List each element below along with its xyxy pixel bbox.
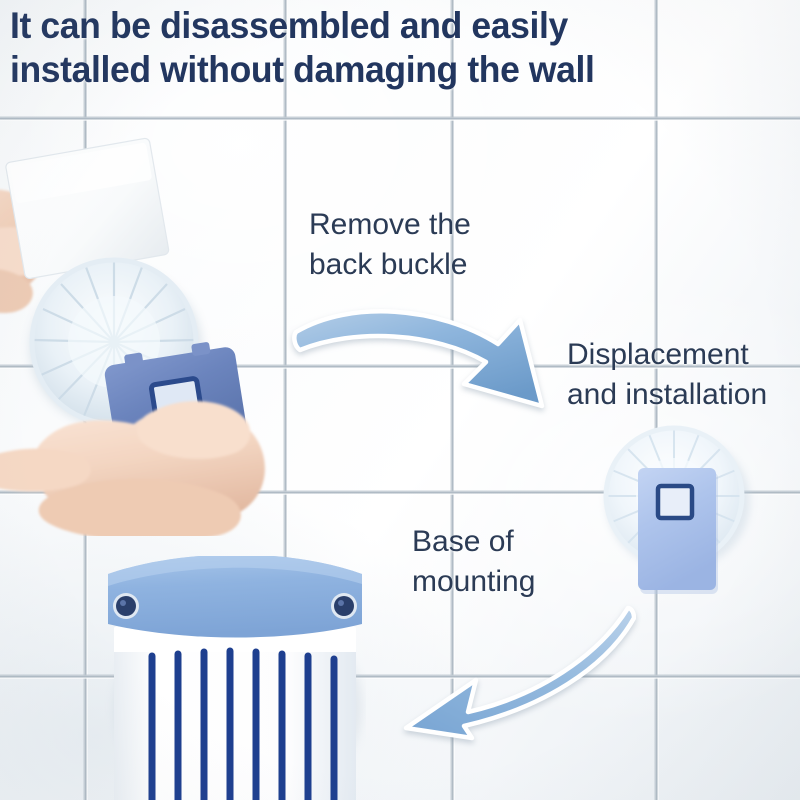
label-remove-line-1: Remove the	[309, 205, 471, 245]
page-title: It can be disassembled and easily instal…	[10, 4, 740, 92]
fan-appliance	[104, 556, 366, 800]
label-base-line-2: mounting	[412, 562, 535, 602]
headline-line-2: installed without damaging the wall	[10, 48, 740, 92]
label-displacement-line-2: and installation	[567, 375, 767, 415]
headline-line-1: It can be disassembled and easily	[10, 4, 740, 48]
arrow-base-to-appliance-icon	[398, 604, 636, 744]
label-displacement-and-installation: Displacement and installation	[567, 335, 767, 415]
label-base-of-mounting: Base of mounting	[412, 522, 535, 602]
product-infographic: It can be disassembled and easily instal…	[0, 0, 800, 800]
label-base-line-1: Base of	[412, 522, 535, 562]
arrow-remove-to-displacement-icon	[288, 288, 580, 424]
wall-mounted-suction-base	[586, 418, 772, 610]
hand-removing-back-buckle	[0, 236, 294, 536]
side-button	[113, 593, 139, 619]
label-displacement-line-1: Displacement	[567, 335, 767, 375]
side-button	[331, 593, 357, 619]
label-remove-back-buckle: Remove the back buckle	[309, 205, 471, 285]
label-remove-line-2: back buckle	[309, 245, 471, 285]
